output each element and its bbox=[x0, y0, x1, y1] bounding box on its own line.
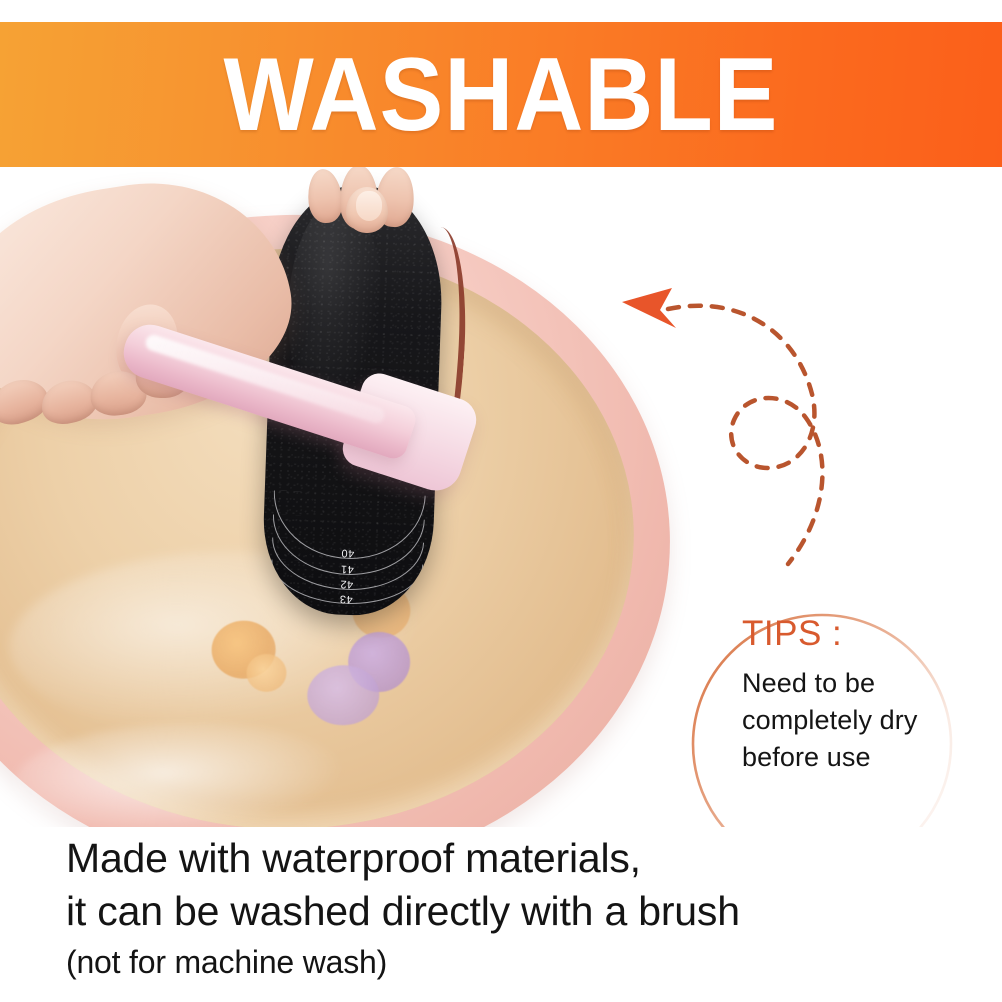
tips-line-1: Need to be bbox=[742, 665, 952, 702]
finger bbox=[305, 167, 344, 224]
caption-line-1: Made with waterproof materials, bbox=[66, 832, 946, 885]
caption-line-2: it can be washed directly with a brush bbox=[66, 885, 946, 938]
fingernail bbox=[356, 191, 382, 221]
tips-line-2: completely dry bbox=[742, 702, 952, 739]
insole-size-label: 42 bbox=[340, 578, 354, 590]
insole-size-label: 40 bbox=[341, 547, 355, 559]
basin-rim-highlight bbox=[12, 717, 346, 827]
banner-title: WASHABLE bbox=[40, 43, 962, 147]
tips-title: TIPS : bbox=[742, 616, 952, 653]
tips-callout: TIPS : Need to be completely dry before … bbox=[742, 616, 952, 777]
insole-size-label: 43 bbox=[339, 593, 353, 605]
caption-line-3: (not for machine wash) bbox=[66, 939, 946, 985]
header-banner: WASHABLE bbox=[0, 22, 1002, 167]
hand-holding-insole bbox=[300, 167, 460, 237]
product-photo: 40 41 42 43 bbox=[0, 167, 1002, 827]
caption-block: Made with waterproof materials, it can b… bbox=[66, 832, 946, 985]
product-feature-image: WASHABLE 40 bbox=[0, 0, 1002, 1002]
tips-line-3: before use bbox=[742, 739, 952, 776]
insole-size-label: 41 bbox=[340, 563, 354, 575]
curly-dashed-arrow-icon bbox=[600, 272, 940, 602]
water-bubble-icon bbox=[306, 664, 380, 726]
